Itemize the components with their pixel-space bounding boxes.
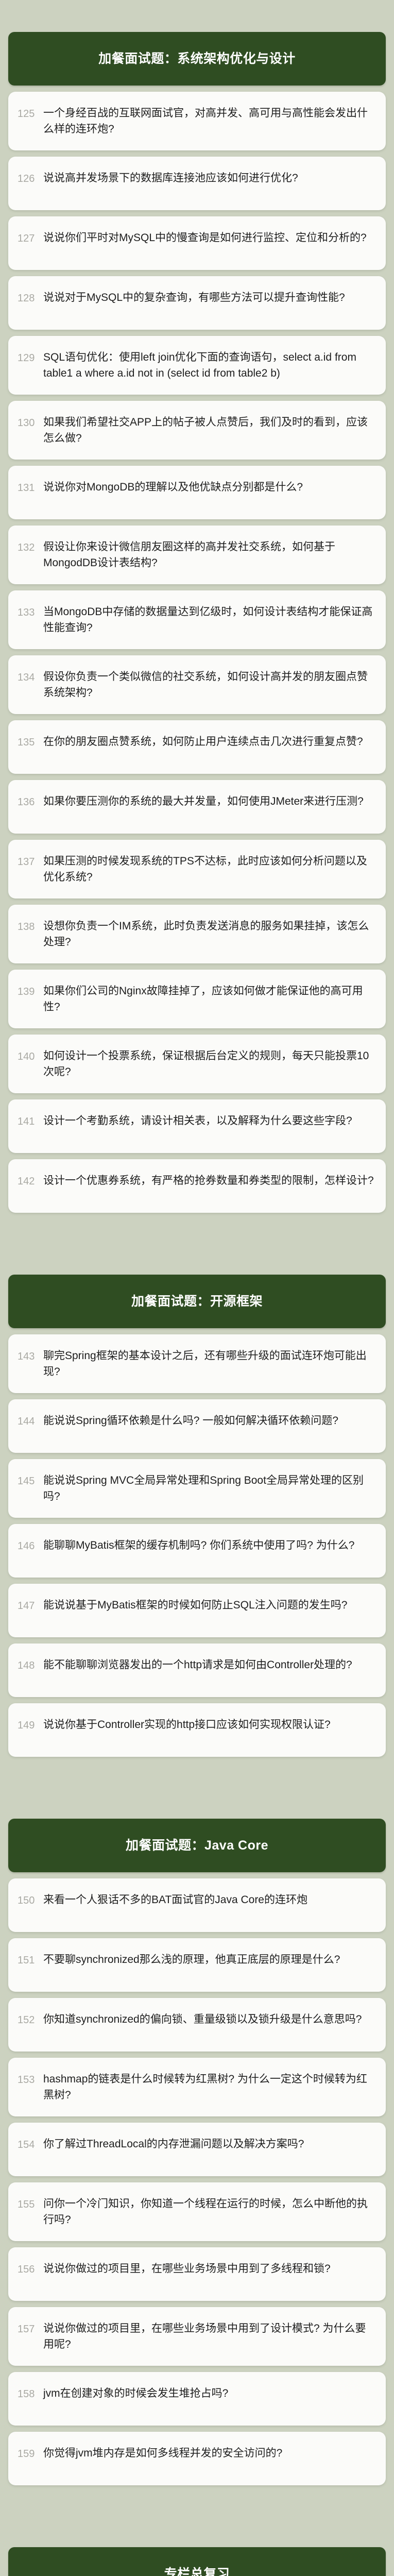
question-text: 设计一个优惠券系统，有严格的抢券数量和券类型的限制，怎样设计?: [43, 1173, 374, 1189]
question-text: 聊完Spring框架的基本设计之后，还有哪些升级的面试连环炮可能出现?: [43, 1348, 374, 1380]
question-card-150[interactable]: 150 来看一个人狠话不多的BAT面试官的Java Core的连环炮: [8, 1878, 386, 1932]
question-section: 加餐面试题：Java Core 150 来看一个人狠话不多的BAT面试官的Jav…: [0, 1819, 394, 2485]
question-card-151[interactable]: 151 不要聊synchronized那么浅的原理，他真正底层的原理是什么?: [8, 1938, 386, 1992]
question-card-132[interactable]: 132 假设让你来设计微信朋友圈这样的高并发社交系统，如何基于MongodDB设…: [8, 526, 386, 584]
question-number: 148: [18, 1657, 43, 1673]
question-text: 设想你负责一个IM系统，此时负责发送消息的服务如果挂掉，该怎么处理?: [43, 918, 374, 950]
question-number: 151: [18, 1952, 43, 1968]
section-gap: [0, 1757, 394, 1819]
section-banner-1[interactable]: 加餐面试题：系统架构优化与设计: [8, 32, 386, 86]
question-number: 137: [18, 853, 43, 870]
question-number: 126: [18, 170, 43, 187]
question-number: 147: [18, 1597, 43, 1614]
question-text: 假设让你来设计微信朋友圈这样的高并发社交系统，如何基于MongodDB设计表结构…: [43, 539, 374, 571]
question-card-155[interactable]: 155 问你一个冷门知识，你知道一个线程在运行的时候，怎么中断他的执行吗?: [8, 2182, 386, 2241]
question-number: 131: [18, 479, 43, 496]
question-number: 145: [18, 1472, 43, 1489]
question-card-137[interactable]: 137 如果压测的时候发现系统的TPS不达标，此时应该如何分析问题以及优化系统?: [8, 840, 386, 899]
section-gap: [0, 1213, 394, 1275]
section-banner-3[interactable]: 加餐面试题：Java Core: [8, 1819, 386, 1872]
question-card-129[interactable]: 129 SQL语句优化：使用left join优化下面的查询语句，select …: [8, 336, 386, 395]
question-card-139[interactable]: 139 如果你们公司的Nginx故障挂掉了，应该如何做才能保证他的高可用性?: [8, 970, 386, 1028]
question-number: 146: [18, 1537, 43, 1554]
question-card-154[interactable]: 154 你了解过ThreadLocal的内存泄漏问题以及解决方案吗?: [8, 2123, 386, 2176]
question-text: 说说你对MongoDB的理解以及他优缺点分别都是什么?: [43, 479, 374, 495]
question-card-146[interactable]: 146 能聊聊MyBatis框架的缓存机制吗? 你们系统中使用了吗? 为什么?: [8, 1524, 386, 1578]
question-number: 139: [18, 983, 43, 999]
question-text: 如果你们公司的Nginx故障挂掉了，应该如何做才能保证他的高可用性?: [43, 983, 374, 1015]
question-text: 说说高并发场景下的数据库连接池应该如何进行优化?: [43, 170, 374, 186]
question-number: 155: [18, 2196, 43, 2212]
question-card-131[interactable]: 131 说说你对MongoDB的理解以及他优缺点分别都是什么?: [8, 466, 386, 519]
question-number: 143: [18, 1348, 43, 1364]
question-text: 在你的朋友圈点赞系统，如何防止用户连续点击几次进行重复点赞?: [43, 734, 374, 750]
question-card-157[interactable]: 157 说说你做过的项目里，在哪些业务场景中用到了设计模式? 为什么要用呢?: [8, 2307, 386, 2366]
question-card-141[interactable]: 141 设计一个考勤系统，请设计相关表，以及解释为什么要这些字段?: [8, 1099, 386, 1153]
question-card-133[interactable]: 133 当MongoDB中存储的数据量达到亿级时，如何设计表结构才能保证高性能查…: [8, 590, 386, 649]
question-card-148[interactable]: 148 能不能聊聊浏览器发出的一个http请求是如何由Controller处理的…: [8, 1643, 386, 1697]
question-card-158[interactable]: 158 jvm在创建对象的时候会发生堆抢占吗?: [8, 2372, 386, 2426]
question-card-145[interactable]: 145 能说说Spring MVC全局异常处理和Spring Boot全局异常处…: [8, 1459, 386, 1518]
section-cards: 143 聊完Spring框架的基本设计之后，还有哪些升级的面试连环炮可能出现? …: [0, 1334, 394, 1757]
question-section: 加餐面试题：开源框架 143 聊完Spring框架的基本设计之后，还有哪些升级的…: [0, 1275, 394, 1757]
question-card-130[interactable]: 130 如果我们希望社交APP上的帖子被人点赞后，我们及时的看到，应该怎么做?: [8, 401, 386, 460]
question-text: 说说你做过的项目里，在哪些业务场景中用到了多线程和锁?: [43, 2261, 374, 2277]
question-text: 你觉得jvm堆内存是如何多线程并发的安全访问的?: [43, 2445, 374, 2461]
question-number: 133: [18, 604, 43, 620]
section-gap: [0, 2485, 394, 2547]
question-number: 141: [18, 1113, 43, 1129]
top-spacer: [0, 0, 394, 32]
question-number: 136: [18, 793, 43, 810]
question-number: 156: [18, 2261, 43, 2277]
question-card-143[interactable]: 143 聊完Spring框架的基本设计之后，还有哪些升级的面试连环炮可能出现?: [8, 1334, 386, 1393]
question-number: 142: [18, 1173, 43, 1189]
question-text: jvm在创建对象的时候会发生堆抢占吗?: [43, 2385, 374, 2401]
question-text: 问你一个冷门知识，你知道一个线程在运行的时候，怎么中断他的执行吗?: [43, 2196, 374, 2228]
question-text: 说说你做过的项目里，在哪些业务场景中用到了设计模式? 为什么要用呢?: [43, 2320, 374, 2352]
question-number: 125: [18, 105, 43, 122]
question-text: 说说对于MySQL中的复杂查询，有哪些方法可以提升查询性能?: [43, 290, 374, 306]
question-number: 128: [18, 290, 43, 306]
question-text: 如果我们希望社交APP上的帖子被人点赞后，我们及时的看到，应该怎么做?: [43, 414, 374, 446]
question-card-126[interactable]: 126 说说高并发场景下的数据库连接池应该如何进行优化?: [8, 157, 386, 210]
question-card-144[interactable]: 144 能说说Spring循环依赖是什么吗? 一般如何解决循环依赖问题?: [8, 1399, 386, 1453]
question-number: 159: [18, 2445, 43, 2462]
question-list-page: 加餐面试题：系统架构优化与设计 125 一个身经百战的互联网面试官，对高并发、高…: [0, 0, 394, 2576]
question-section: 加餐面试题：系统架构优化与设计 125 一个身经百战的互联网面试官，对高并发、高…: [0, 32, 394, 1213]
question-text: hashmap的链表是什么时候转为红黑树? 为什么一定这个时候转为红黑树?: [43, 2071, 374, 2103]
question-text: 能不能聊聊浏览器发出的一个http请求是如何由Controller处理的?: [43, 1657, 374, 1673]
question-text: 来看一个人狠话不多的BAT面试官的Java Core的连环炮: [43, 1892, 374, 1908]
question-text: 如何设计一个投票系统，保证根据后台定义的规则，每天只能投票10次呢?: [43, 1048, 374, 1080]
question-text: 如果压测的时候发现系统的TPS不达标，此时应该如何分析问题以及优化系统?: [43, 853, 374, 885]
question-text: 你了解过ThreadLocal的内存泄漏问题以及解决方案吗?: [43, 2136, 374, 2152]
question-text: 能聊聊MyBatis框架的缓存机制吗? 你们系统中使用了吗? 为什么?: [43, 1537, 374, 1553]
question-number: 134: [18, 669, 43, 685]
section-banner-title: 加餐面试题：Java Core: [118, 1838, 276, 1853]
section-cards: 125 一个身经百战的互联网面试官，对高并发、高可用与高性能会发出什么样的连环炮…: [0, 92, 394, 1213]
question-card-135[interactable]: 135 在你的朋友圈点赞系统，如何防止用户连续点击几次进行重复点赞?: [8, 720, 386, 774]
question-card-125[interactable]: 125 一个身经百战的互联网面试官，对高并发、高可用与高性能会发出什么样的连环炮…: [8, 92, 386, 150]
question-number: 130: [18, 414, 43, 431]
question-text: 说说你基于Controller实现的http接口应该如何实现权限认证?: [43, 1717, 374, 1733]
question-number: 154: [18, 2136, 43, 2153]
question-text: 当MongoDB中存储的数据量达到亿级时，如何设计表结构才能保证高性能查询?: [43, 604, 374, 636]
question-number: 150: [18, 1892, 43, 1908]
question-card-127[interactable]: 127 说说你们平时对MySQL中的慢查询是如何进行监控、定位和分析的?: [8, 216, 386, 270]
question-number: 152: [18, 2011, 43, 2028]
question-number: 132: [18, 539, 43, 555]
question-number: 138: [18, 918, 43, 935]
question-number: 153: [18, 2071, 43, 2088]
question-card-156[interactable]: 156 说说你做过的项目里，在哪些业务场景中用到了多线程和锁?: [8, 2247, 386, 2301]
question-text: 你知道synchronized的偏向锁、重量级锁以及锁升级是什么意思吗?: [43, 2011, 374, 2027]
section-banner-2[interactable]: 加餐面试题：开源框架: [8, 1275, 386, 1328]
question-section: 专栏总复习 160 在面试突击第三季这个专栏中，你都学到了哪些东西? 161 如…: [0, 2547, 394, 2576]
question-card-128[interactable]: 128 说说对于MySQL中的复杂查询，有哪些方法可以提升查询性能?: [8, 276, 386, 330]
question-card-136[interactable]: 136 如果你要压测你的系统的最大并发量，如何使用JMeter来进行压测?: [8, 780, 386, 834]
question-number: 149: [18, 1717, 43, 1733]
question-card-153[interactable]: 153 hashmap的链表是什么时候转为红黑树? 为什么一定这个时候转为红黑树…: [8, 2058, 386, 2116]
section-banner-title: 加餐面试题：系统架构优化与设计: [91, 51, 303, 66]
question-text: 假设你负责一个类似微信的社交系统，如何设计高并发的朋友圈点赞系统架构?: [43, 669, 374, 701]
question-number: 127: [18, 230, 43, 246]
question-text: 不要聊synchronized那么浅的原理，他真正底层的原理是什么?: [43, 1952, 374, 1968]
question-card-134[interactable]: 134 假设你负责一个类似微信的社交系统，如何设计高并发的朋友圈点赞系统架构?: [8, 655, 386, 714]
question-card-138[interactable]: 138 设想你负责一个IM系统，此时负责发送消息的服务如果挂掉，该怎么处理?: [8, 905, 386, 963]
question-number: 129: [18, 349, 43, 366]
question-text: 能说说Spring MVC全局异常处理和Spring Boot全局异常处理的区别…: [43, 1472, 374, 1504]
question-text: 一个身经百战的互联网面试官，对高并发、高可用与高性能会发出什么样的连环炮?: [43, 105, 374, 137]
question-text: 能说说Spring循环依赖是什么吗? 一般如何解决循环依赖问题?: [43, 1413, 374, 1429]
question-card-140[interactable]: 140 如何设计一个投票系统，保证根据后台定义的规则，每天只能投票10次呢?: [8, 1035, 386, 1093]
question-text: SQL语句优化：使用left join优化下面的查询语句，select a.id…: [43, 349, 374, 381]
question-number: 158: [18, 2385, 43, 2402]
question-number: 144: [18, 1413, 43, 1429]
question-text: 设计一个考勤系统，请设计相关表，以及解释为什么要这些字段?: [43, 1113, 374, 1129]
question-number: 135: [18, 734, 43, 750]
question-text: 能说说基于MyBatis框架的时候如何防止SQL注入问题的发生吗?: [43, 1597, 374, 1613]
question-card-147[interactable]: 147 能说说基于MyBatis框架的时候如何防止SQL注入问题的发生吗?: [8, 1584, 386, 1637]
question-card-142[interactable]: 142 设计一个优惠券系统，有严格的抢券数量和券类型的限制，怎样设计?: [8, 1159, 386, 1213]
question-text: 说说你们平时对MySQL中的慢查询是如何进行监控、定位和分析的?: [43, 230, 374, 246]
question-card-149[interactable]: 149 说说你基于Controller实现的http接口应该如何实现权限认证?: [8, 1703, 386, 1757]
question-number: 140: [18, 1048, 43, 1064]
question-number: 157: [18, 2320, 43, 2337]
sections-container: 加餐面试题：系统架构优化与设计 125 一个身经百战的互联网面试官，对高并发、高…: [0, 32, 394, 2576]
question-card-152[interactable]: 152 你知道synchronized的偏向锁、重量级锁以及锁升级是什么意思吗?: [8, 1998, 386, 2052]
section-banner-4[interactable]: 专栏总复习: [8, 2547, 386, 2576]
question-text: 如果你要压测你的系统的最大并发量，如何使用JMeter来进行压测?: [43, 793, 374, 809]
section-banner-title: 专栏总复习: [157, 2566, 237, 2576]
section-banner-title: 加餐面试题：开源框架: [124, 1294, 270, 1309]
question-card-159[interactable]: 159 你觉得jvm堆内存是如何多线程并发的安全访问的?: [8, 2432, 386, 2485]
section-cards: 150 来看一个人狠话不多的BAT面试官的Java Core的连环炮 151 不…: [0, 1878, 394, 2485]
